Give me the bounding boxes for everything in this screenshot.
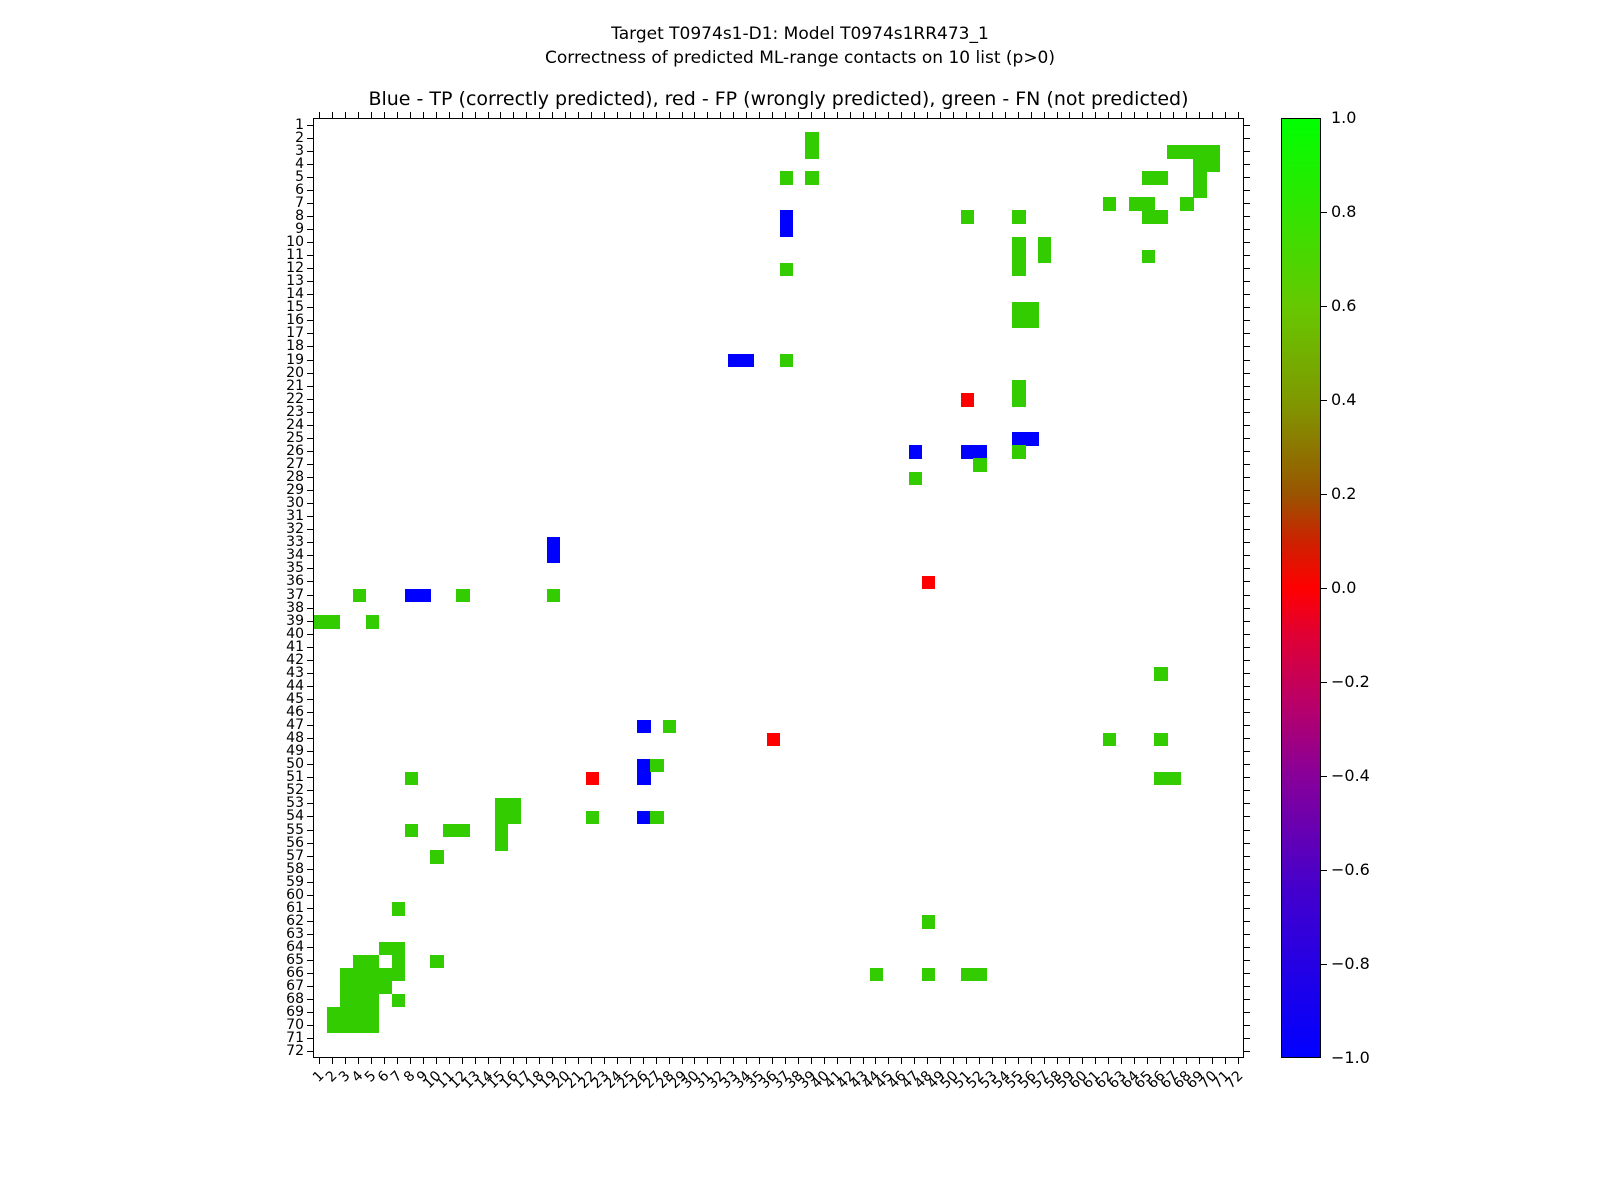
y-tick-right — [1244, 581, 1250, 582]
x-tick-top — [1212, 112, 1213, 118]
colorbar-tick-label: −0.6 — [1331, 863, 1370, 877]
heatmap-cell-fn — [650, 759, 663, 772]
x-tick — [1057, 1058, 1058, 1064]
x-tick-top — [319, 112, 320, 118]
x-tick-top — [462, 112, 463, 118]
heatmap-cell-fn — [340, 981, 353, 994]
colorbar-tick-label: 0.6 — [1331, 299, 1356, 313]
heatmap-cell-fn — [392, 994, 405, 1007]
heatmap-cell-tp — [741, 354, 754, 367]
x-tick-top — [384, 112, 385, 118]
heatmap-cell-fn — [1206, 158, 1219, 171]
heatmap-cell-fn — [1154, 667, 1167, 680]
x-tick-top — [1031, 112, 1032, 118]
x-tick — [772, 1058, 773, 1064]
y-tick — [307, 986, 313, 987]
x-tick-top — [617, 112, 618, 118]
y-tick — [307, 634, 313, 635]
y-tick-right — [1244, 999, 1250, 1000]
heatmap-cell-fn — [805, 171, 818, 184]
x-tick-top — [436, 112, 437, 118]
x-tick-top — [1225, 112, 1226, 118]
heatmap-cell-fn — [1142, 171, 1155, 184]
x-tick-top — [901, 112, 902, 118]
y-tick-right — [1244, 595, 1250, 596]
heatmap-cell-fn — [340, 1007, 353, 1020]
colorbar-gradient — [1281, 118, 1321, 1058]
x-tick — [436, 1058, 437, 1064]
y-tick — [307, 856, 313, 857]
y-tick — [307, 477, 313, 478]
y-tick — [307, 673, 313, 674]
heatmap-cell-fn — [430, 850, 443, 863]
y-tick-right — [1244, 960, 1250, 961]
heatmap-cell-tp — [973, 445, 986, 458]
heatmap-cell-tp — [637, 811, 650, 824]
x-tick — [824, 1058, 825, 1064]
x-tick — [1225, 1058, 1226, 1064]
y-tick-right — [1244, 477, 1250, 478]
heatmap-cell-fn — [805, 145, 818, 158]
y-tick — [307, 399, 313, 400]
y-tick-right — [1244, 634, 1250, 635]
heatmap-cell-fn — [392, 955, 405, 968]
x-tick — [332, 1058, 333, 1064]
x-tick-top — [707, 112, 708, 118]
heatmap-cell-fn — [922, 915, 935, 928]
heatmap-cell-tp — [909, 445, 922, 458]
x-tick-top — [1134, 112, 1135, 118]
colorbar-tick — [1321, 212, 1327, 213]
x-tick — [630, 1058, 631, 1064]
y-tick — [307, 464, 313, 465]
heatmap-cell-fn — [366, 981, 379, 994]
heatmap-cell-fn — [909, 472, 922, 485]
x-tick-top — [837, 112, 838, 118]
y-tick-right — [1244, 177, 1250, 178]
heatmap-cell-fn — [1129, 197, 1142, 210]
heatmap-cell-tp — [637, 772, 650, 785]
y-tick-right — [1244, 464, 1250, 465]
y-tick-right — [1244, 947, 1250, 948]
colorbar: 1.00.80.60.40.20.0−0.2−0.4−0.6−0.8−1.0 — [1281, 118, 1321, 1058]
heatmap-cell-fn — [379, 968, 392, 981]
x-tick-top — [1147, 112, 1148, 118]
heatmap-cell-fn — [1180, 197, 1193, 210]
y-tick — [307, 373, 313, 374]
heatmap-cell-fn — [805, 132, 818, 145]
y-tick — [307, 790, 313, 791]
x-tick-top — [1160, 112, 1161, 118]
y-tick-right — [1244, 503, 1250, 504]
y-tick-right — [1244, 908, 1250, 909]
x-tick-top — [345, 112, 346, 118]
heatmap-cell-fn — [405, 772, 418, 785]
heatmap-cell-fn — [1154, 772, 1167, 785]
y-tick-right — [1244, 568, 1250, 569]
y-tick — [307, 960, 313, 961]
y-tick-right — [1244, 451, 1250, 452]
x-tick-top — [772, 112, 773, 118]
y-tick — [307, 229, 313, 230]
y-tick-right — [1244, 856, 1250, 857]
y-tick-right — [1244, 921, 1250, 922]
x-tick — [785, 1058, 786, 1064]
heatmap-cell-fn — [430, 955, 443, 968]
x-tick — [513, 1058, 514, 1064]
heatmap-cell-fn — [392, 942, 405, 955]
y-tick — [307, 412, 313, 413]
heatmap-cell-fn — [1103, 197, 1116, 210]
heatmap-cell-fn — [1103, 733, 1116, 746]
y-tick-right — [1244, 686, 1250, 687]
heatmap-cell-fn — [663, 720, 676, 733]
legend-subtitle: Blue - TP (correctly predicted), red - F… — [313, 88, 1244, 110]
x-tick — [1199, 1058, 1200, 1064]
y-tick — [307, 843, 313, 844]
x-tick — [979, 1058, 980, 1064]
x-tick — [384, 1058, 385, 1064]
y-tick-right — [1244, 712, 1250, 713]
x-tick — [1212, 1058, 1213, 1064]
heatmap-cell-fn — [327, 1007, 340, 1020]
y-tick-right — [1244, 190, 1250, 191]
x-tick — [682, 1058, 683, 1064]
x-tick — [901, 1058, 902, 1064]
y-tick — [307, 268, 313, 269]
x-tick — [604, 1058, 605, 1064]
y-tick — [307, 947, 313, 948]
x-tick — [746, 1058, 747, 1064]
colorbar-tick — [1321, 494, 1327, 495]
y-tick-right — [1244, 830, 1250, 831]
y-tick — [307, 190, 313, 191]
y-tick — [307, 294, 313, 295]
heatmap-cell-fn — [1180, 145, 1193, 158]
x-tick-top — [500, 112, 501, 118]
y-tick — [307, 699, 313, 700]
x-tick — [850, 1058, 851, 1064]
x-tick — [707, 1058, 708, 1064]
heatmap-cell-tp — [547, 537, 560, 550]
heatmap-cell-fn — [327, 1020, 340, 1033]
x-tick — [371, 1058, 372, 1064]
x-tick-top — [1057, 112, 1058, 118]
heatmap-cell-fn — [1012, 380, 1025, 393]
y-tick — [307, 386, 313, 387]
colorbar-tick — [1321, 964, 1327, 965]
y-tick — [307, 1038, 313, 1039]
y-tick-right — [1244, 164, 1250, 165]
x-tick — [966, 1058, 967, 1064]
y-tick-right — [1244, 790, 1250, 791]
x-tick — [811, 1058, 812, 1064]
x-tick-top — [591, 112, 592, 118]
y-tick — [307, 438, 313, 439]
y-tick — [307, 830, 313, 831]
x-tick-top — [630, 112, 631, 118]
y-tick — [307, 1025, 313, 1026]
colorbar-tick-label: 0.4 — [1331, 393, 1356, 407]
x-tick — [927, 1058, 928, 1064]
y-tick — [307, 908, 313, 909]
heatmap-cell-fn — [1206, 145, 1219, 158]
y-tick — [307, 216, 313, 217]
y-tick-right — [1244, 138, 1250, 139]
heatmap-cell-fn — [1142, 250, 1155, 263]
x-tick-top — [1095, 112, 1096, 118]
heatmap-cell-fn — [495, 837, 508, 850]
heatmap-cell-fn — [366, 1007, 379, 1020]
heatmap-cell-fn — [973, 968, 986, 981]
heatmap-cell-fn — [1012, 302, 1025, 315]
y-tick-right — [1244, 516, 1250, 517]
heatmap-cell-tp — [1025, 432, 1038, 445]
title-line-1: Target T0974s1-D1: Model T0974s1RR473_1 — [0, 22, 1600, 46]
y-tick — [307, 777, 313, 778]
heatmap-cell-fn — [1193, 158, 1206, 171]
contact-map-plot: 1234567891011121314151617181920212223242… — [313, 118, 1244, 1058]
heatmap-cell-fn — [1012, 315, 1025, 328]
y-tick-right — [1244, 307, 1250, 308]
heatmap-cell-fn — [353, 994, 366, 1007]
heatmap-cell-tp — [728, 354, 741, 367]
heatmap-cell-fn — [1012, 210, 1025, 223]
figure-title-block: Target T0974s1-D1: Model T0974s1RR473_1 … — [0, 22, 1600, 70]
y-tick-right — [1244, 882, 1250, 883]
x-tick-top — [979, 112, 980, 118]
y-tick-right — [1244, 777, 1250, 778]
y-tick — [307, 242, 313, 243]
x-tick — [345, 1058, 346, 1064]
heatmap-cell-tp — [417, 589, 430, 602]
x-tick — [475, 1058, 476, 1064]
y-tick-right — [1244, 647, 1250, 648]
x-tick-top — [358, 112, 359, 118]
y-tick — [307, 751, 313, 752]
heatmap-cell-fn — [353, 589, 366, 602]
x-tick — [1069, 1058, 1070, 1064]
heatmap-cell-fn — [456, 824, 469, 837]
y-tick-right — [1244, 268, 1250, 269]
y-tick-right — [1244, 425, 1250, 426]
heatmap-cell-fn — [547, 589, 560, 602]
heatmap-cell-fn — [495, 798, 508, 811]
y-tick — [307, 529, 313, 530]
colorbar-tick — [1321, 870, 1327, 871]
y-tick — [307, 555, 313, 556]
x-tick — [500, 1058, 501, 1064]
y-tick-right — [1244, 203, 1250, 204]
x-tick — [1005, 1058, 1006, 1064]
y-tick — [307, 882, 313, 883]
x-tick-top — [1173, 112, 1174, 118]
y-tick-right — [1244, 673, 1250, 674]
x-tick-top — [953, 112, 954, 118]
heatmap-cell-fn — [456, 589, 469, 602]
y-tick — [307, 738, 313, 739]
x-tick-top — [643, 112, 644, 118]
x-tick-top — [1044, 112, 1045, 118]
x-tick — [578, 1058, 579, 1064]
heatmap-cell-fn — [1167, 145, 1180, 158]
x-tick-top — [656, 112, 657, 118]
y-tick-right — [1244, 738, 1250, 739]
heatmap-cell-fn — [353, 968, 366, 981]
heatmap-cell-fn — [1012, 237, 1025, 250]
colorbar-tick-label: 0.0 — [1331, 581, 1356, 595]
colorbar-tick-label: −0.8 — [1331, 957, 1370, 971]
heatmap-cell-fn — [780, 354, 793, 367]
y-tick-right — [1244, 1025, 1250, 1026]
y-tick — [307, 320, 313, 321]
y-tick — [307, 1051, 313, 1052]
heatmap-cell-fn — [366, 955, 379, 968]
x-tick — [1095, 1058, 1096, 1064]
y-tick — [307, 1012, 313, 1013]
y-tick-right — [1244, 1038, 1250, 1039]
x-tick — [488, 1058, 489, 1064]
x-tick-top — [488, 112, 489, 118]
y-tick — [307, 255, 313, 256]
x-tick — [617, 1058, 618, 1064]
x-tick-top — [1186, 112, 1187, 118]
heatmap-cell-fn — [353, 1020, 366, 1033]
x-tick-top — [332, 112, 333, 118]
heatmap-cell-fn — [1193, 171, 1206, 184]
y-tick-right — [1244, 843, 1250, 844]
colorbar-tick — [1321, 588, 1327, 589]
x-tick-top — [811, 112, 812, 118]
y-tick-right — [1244, 490, 1250, 491]
y-tick — [307, 568, 313, 569]
colorbar-tick-label: 1.0 — [1331, 111, 1356, 125]
heatmap-cell-fn — [780, 171, 793, 184]
y-tick-right — [1244, 608, 1250, 609]
x-tick — [953, 1058, 954, 1064]
x-tick-top — [733, 112, 734, 118]
y-tick — [307, 725, 313, 726]
y-tick-right — [1244, 412, 1250, 413]
x-tick-top — [824, 112, 825, 118]
x-tick — [1238, 1058, 1239, 1064]
heatmap-cell-fn — [340, 994, 353, 1007]
x-tick — [1173, 1058, 1174, 1064]
heatmap-cell-fn — [353, 955, 366, 968]
x-tick — [656, 1058, 657, 1064]
heatmap-cell-tp — [405, 589, 418, 602]
x-tick-top — [449, 112, 450, 118]
x-tick-top — [552, 112, 553, 118]
x-tick — [992, 1058, 993, 1064]
y-tick — [307, 346, 313, 347]
heatmap-cell-fn — [1012, 445, 1025, 458]
x-tick — [423, 1058, 424, 1064]
x-tick-top — [1018, 112, 1019, 118]
x-tick-top — [875, 112, 876, 118]
x-tick-top — [1108, 112, 1109, 118]
heatmap-cell-fn — [1012, 250, 1025, 263]
y-tick — [307, 921, 313, 922]
y-tick — [307, 490, 313, 491]
heatmap-cell-fn — [392, 968, 405, 981]
y-tick-right — [1244, 895, 1250, 896]
x-tick — [798, 1058, 799, 1064]
x-tick — [358, 1058, 359, 1064]
x-tick-top — [1005, 112, 1006, 118]
heatmap-cell-fn — [961, 210, 974, 223]
heatmap-cell-fn — [392, 902, 405, 915]
title-line-2: Correctness of predicted ML-range contac… — [0, 46, 1600, 70]
x-tick-top — [720, 112, 721, 118]
x-tick-top — [475, 112, 476, 118]
heatmap-cell-fn — [340, 968, 353, 981]
x-tick — [1044, 1058, 1045, 1064]
y-tick — [307, 581, 313, 582]
x-tick — [319, 1058, 320, 1064]
heatmap-cell-fn — [1038, 237, 1051, 250]
y-tick — [307, 307, 313, 308]
y-tick-right — [1244, 386, 1250, 387]
x-tick — [526, 1058, 527, 1064]
heatmap-cell-fn — [379, 981, 392, 994]
heatmap-cell-tp — [780, 210, 793, 223]
y-tick-right — [1244, 346, 1250, 347]
y-tick-right — [1244, 320, 1250, 321]
y-tick-right — [1244, 869, 1250, 870]
heatmap-cell-fn — [495, 824, 508, 837]
heatmap-cell-tp — [961, 445, 974, 458]
x-tick-top — [604, 112, 605, 118]
x-tick — [1121, 1058, 1122, 1064]
colorbar-tick — [1321, 400, 1327, 401]
y-tick-right — [1244, 542, 1250, 543]
x-tick-top — [397, 112, 398, 118]
y-tick — [307, 138, 313, 139]
y-tick — [307, 934, 313, 935]
x-tick-top — [371, 112, 372, 118]
y-tick — [307, 803, 313, 804]
y-tick-right — [1244, 816, 1250, 817]
y-tick — [307, 164, 313, 165]
heatmap-cell-fn — [353, 1007, 366, 1020]
heatmap-cell-fn — [973, 458, 986, 471]
x-tick-top — [746, 112, 747, 118]
heatmap-cell-fn — [1012, 393, 1025, 406]
heatmap-cell-fn — [495, 811, 508, 824]
x-tick-top — [694, 112, 695, 118]
x-tick — [449, 1058, 450, 1064]
heatmap-cell-fn — [1038, 250, 1051, 263]
heatmap-cell-fn — [1193, 145, 1206, 158]
x-tick-top — [410, 112, 411, 118]
x-tick-top — [785, 112, 786, 118]
y-tick — [307, 451, 313, 452]
x-tick — [539, 1058, 540, 1064]
colorbar-tick-label: −0.4 — [1331, 769, 1370, 783]
x-tick-top — [578, 112, 579, 118]
y-tick — [307, 621, 313, 622]
x-tick-top — [966, 112, 967, 118]
x-tick — [888, 1058, 889, 1064]
y-tick-right — [1244, 725, 1250, 726]
heatmap-cell-fn — [508, 811, 521, 824]
x-tick — [914, 1058, 915, 1064]
heatmap-canvas[interactable] — [313, 118, 1244, 1058]
y-tick — [307, 177, 313, 178]
x-tick — [1082, 1058, 1083, 1064]
heatmap-cell-fn — [650, 811, 663, 824]
